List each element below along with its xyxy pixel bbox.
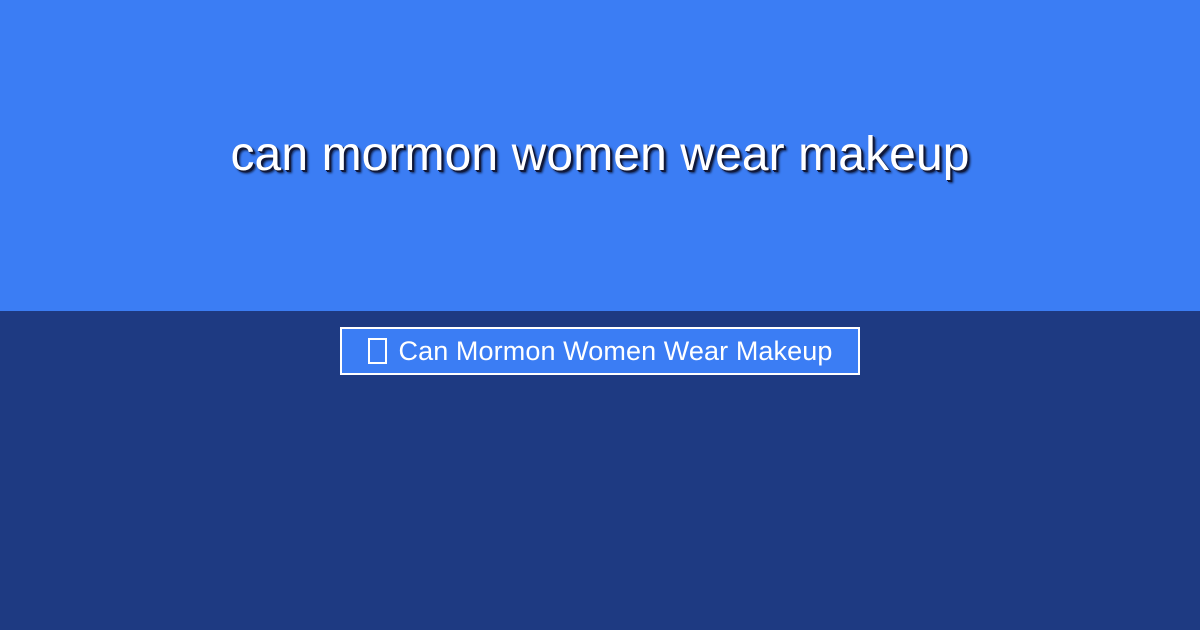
- lower-band: Can Mormon Women Wear Makeup: [0, 311, 1200, 630]
- cta-button[interactable]: Can Mormon Women Wear Makeup: [340, 327, 861, 375]
- social-preview-card: can mormon women wear makeup Can Mormon …: [0, 0, 1200, 630]
- cta-container: Can Mormon Women Wear Makeup: [0, 327, 1200, 375]
- hero-band: can mormon women wear makeup: [0, 0, 1200, 311]
- missing-glyph-box-icon: [368, 338, 387, 364]
- page-title: can mormon women wear makeup: [210, 129, 989, 182]
- cta-button-label: Can Mormon Women Wear Makeup: [399, 338, 833, 365]
